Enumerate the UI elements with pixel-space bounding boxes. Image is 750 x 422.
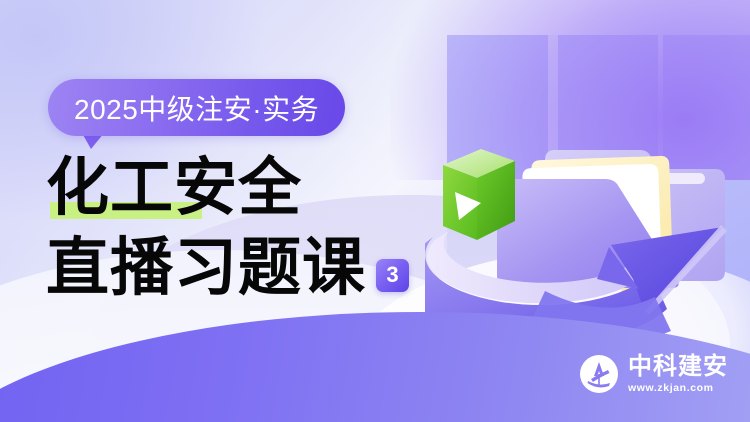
brand-logo: 中科建安 www.zkjan.com	[579, 354, 728, 394]
folder-documents-arrow-illustration	[425, 95, 735, 335]
zkjan-circle-logo-icon	[579, 354, 619, 394]
course-badge-pill: 2025中级注安·实务	[48, 79, 345, 136]
course-badge-label: 2025中级注安·实务	[74, 88, 319, 128]
headline-line-1: 化工安全	[46, 153, 302, 223]
brand-logo-text: 中科建安 www.zkjan.com	[628, 355, 728, 394]
headline-line-2: 直播习题课	[46, 232, 366, 304]
episode-number-badge: 3	[376, 259, 409, 292]
brand-name: 中科建安	[628, 355, 728, 379]
headline-block: 化工安全 直播习题课 3	[46, 152, 466, 304]
course-banner: 2025中级注安·实务 化工安全 直播习题课 3 中科建安 www.zkjan.…	[0, 0, 750, 422]
headline-line-2-row: 直播习题课 3	[46, 232, 466, 304]
brand-url: www.zkjan.com	[628, 383, 728, 394]
headline-line-1-row: 化工安全	[46, 152, 466, 224]
bottom-band-swoosh	[467, 394, 750, 422]
